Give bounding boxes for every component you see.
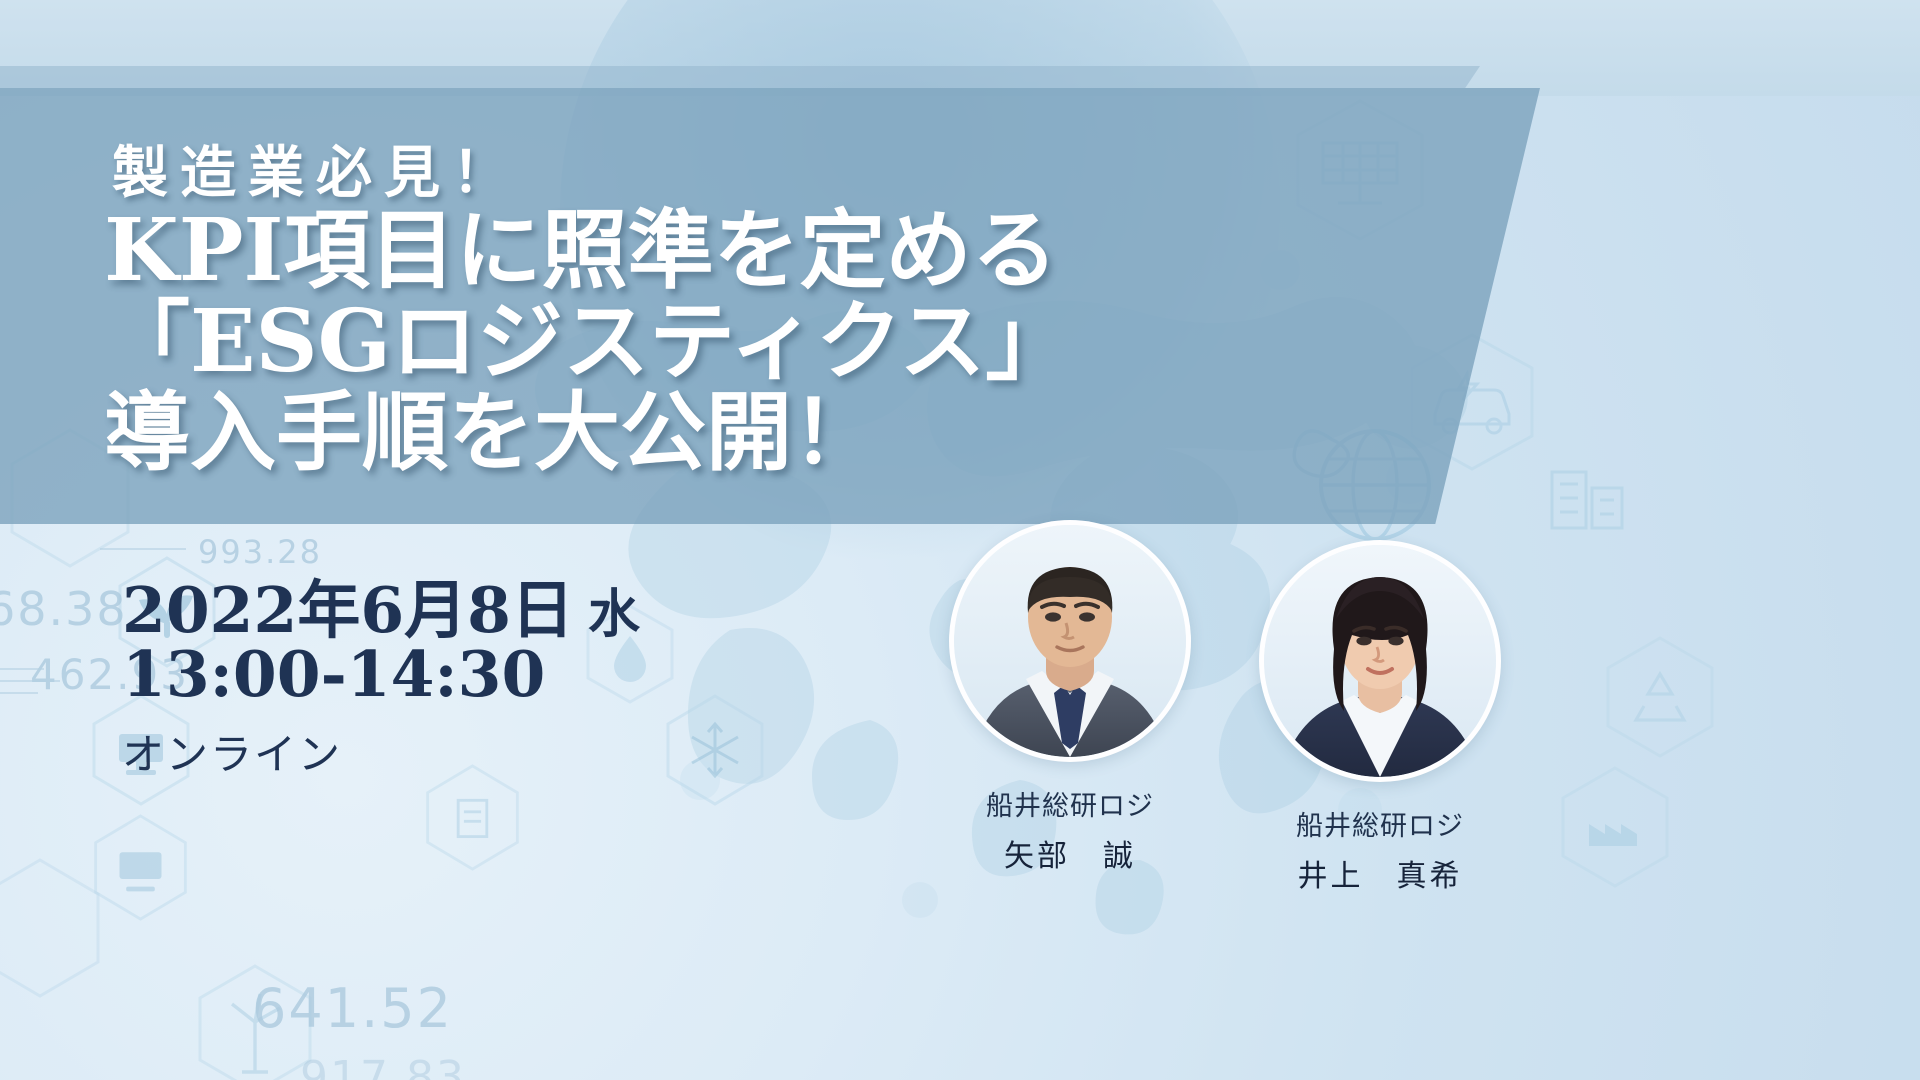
title-line-1: KPI項目に照準を定める: [104, 208, 1071, 293]
speaker-name: 井上 真希: [1230, 851, 1530, 895]
decor-line-3: [0, 680, 60, 682]
decor-number-917: 917.83: [300, 1052, 466, 1080]
banner-title: KPI項目に照準を定める 「ESGロジスティクス」 導入手順を大公開！: [104, 208, 1071, 475]
speaker-org: 船井総研ロジ: [920, 784, 1220, 823]
webinar-banner: 993.28 68.38 462.93 641.52 917.83 製造業必見！…: [0, 0, 1920, 1080]
speaker-card: 船井総研ロジ 井上 真希: [1230, 540, 1530, 895]
decor-line-1: [100, 548, 186, 550]
speaker-org: 船井総研ロジ: [1230, 804, 1530, 843]
title-line-3: 導入手順を大公開！: [104, 390, 1071, 475]
speaker-card: 船井総研ロジ 矢部 誠: [920, 520, 1220, 875]
speaker-name: 矢部 誠: [920, 831, 1220, 875]
decor-line-4: [0, 692, 38, 694]
event-date: 2022年6月8日: [122, 573, 574, 647]
avatar: [949, 520, 1191, 762]
decor-number-68: 68.38: [0, 582, 128, 636]
event-time: 13:00-14:30: [122, 641, 640, 707]
speaker-list: 船井総研ロジ 矢部 誠: [900, 520, 1900, 1080]
avatar: [1259, 540, 1501, 782]
schedule-block: 2022年6月8日水 13:00-14:30 オンライン: [122, 578, 640, 782]
event-date-line: 2022年6月8日水: [122, 578, 640, 643]
title-band-top-strip: [0, 66, 1480, 88]
decor-number-993: 993.28: [198, 533, 322, 571]
decor-line-2: [0, 668, 44, 670]
title-line-2: 「ESGロジスティクス」: [104, 299, 1071, 384]
banner-kicker: 製造業必見！: [112, 128, 520, 209]
decor-number-641: 641.52: [252, 977, 453, 1040]
event-day-of-week: 水: [588, 584, 640, 645]
event-venue: オンライン: [122, 721, 640, 782]
molecule-icon: [0, 850, 120, 1020]
